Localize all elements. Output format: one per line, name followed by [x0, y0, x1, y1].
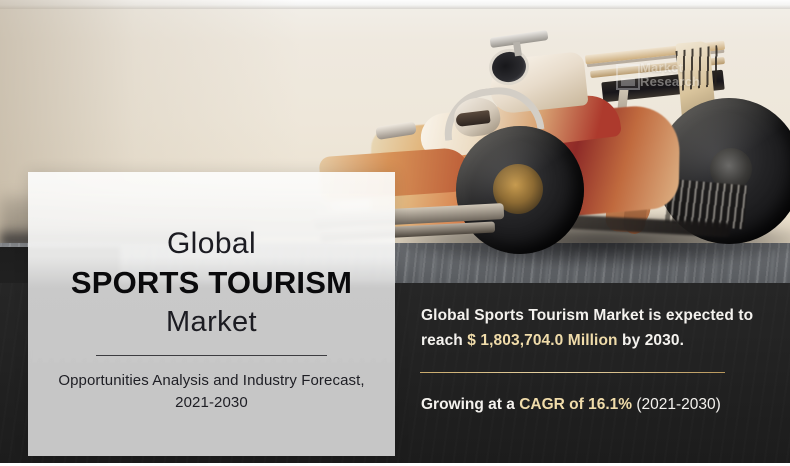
cagr-label: CAGR of	[519, 396, 584, 413]
watermark-line-2: Research	[640, 75, 724, 89]
watermark-text: Market Research	[640, 61, 724, 89]
car-front-tyre-sheen	[456, 126, 584, 254]
title-suffix: Market	[28, 304, 395, 340]
forecast-value: $ 1,803,704.0 Million	[467, 332, 617, 349]
page-title: SPORTS TOURISM	[28, 263, 395, 303]
cagr-period: (2021-2030)	[636, 396, 720, 413]
highlights-block: Global Sports Tourism Market is expected…	[421, 303, 771, 417]
cagr-value: 16.1%	[588, 396, 632, 413]
watermark-logo-icon	[616, 64, 640, 90]
title-divider	[96, 355, 327, 356]
watermark-line-1: Market	[640, 61, 724, 75]
forecast-lead: Global Sports Tourism Market is expected…	[421, 307, 753, 324]
forecast-statement: Global Sports Tourism Market is expected…	[421, 303, 771, 353]
cagr-statement: Growing at a CAGR of 16.1% (2021-2030)	[421, 393, 771, 417]
title-panel: Global SPORTS TOURISM Market Opportuniti…	[28, 172, 395, 456]
forecast-reach-label: reach	[421, 332, 463, 349]
market-research-watermark: Market Research	[616, 60, 724, 104]
race-car-graphic	[380, 12, 790, 292]
highlights-divider	[420, 372, 725, 373]
forecast-tail: by 2030.	[622, 332, 684, 349]
cagr-lead: Growing at a	[421, 396, 515, 413]
title-panel-content: Global SPORTS TOURISM Market Opportuniti…	[28, 226, 395, 414]
title-eyebrow: Global	[28, 226, 395, 262]
market-report-banner: Market Research Global SPORTS TOURISM Ma…	[0, 0, 790, 466]
title-subtitle: Opportunities Analysis and Industry Fore…	[28, 370, 395, 414]
